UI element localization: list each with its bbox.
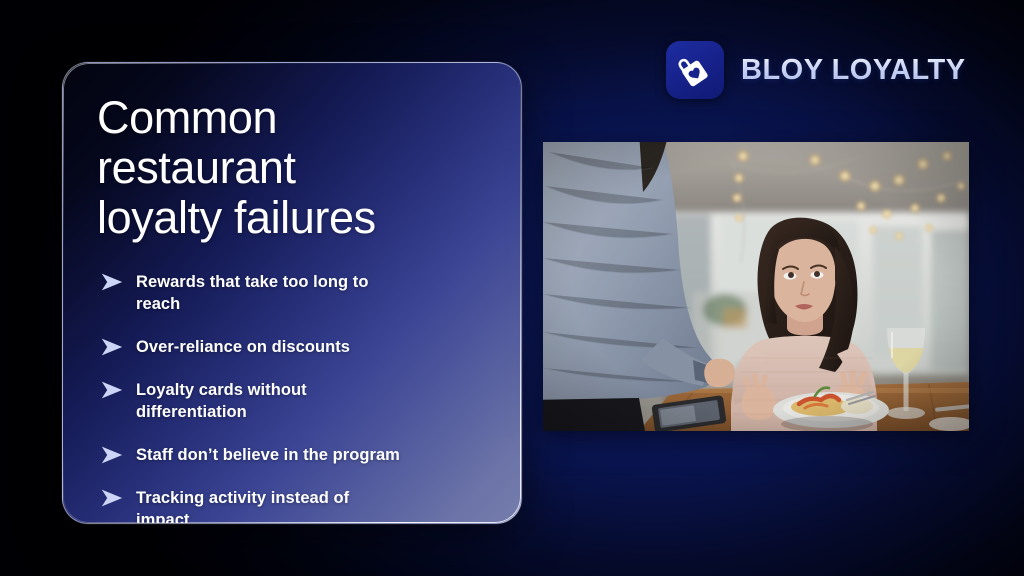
list-item-label: Tracking activity instead of impact (136, 487, 404, 524)
arrow-right-icon (101, 381, 123, 399)
list-item-label: Loyalty cards without differentiation (136, 379, 404, 423)
content-card: Common restaurant loyalty failures Rewar… (62, 62, 522, 524)
arrow-right-icon (101, 273, 123, 291)
list-item: Loyalty cards without differentiation (97, 379, 487, 423)
list-item: Rewards that take too long to reach (97, 271, 487, 315)
brand-wordmark: BLOY LOYALTY (741, 54, 966, 87)
restaurant-photo (543, 142, 969, 431)
arrow-right-icon (101, 338, 123, 356)
price-tag-heart-icon (666, 41, 724, 99)
arrow-right-icon (101, 446, 123, 464)
list-item-label: Over-reliance on discounts (136, 336, 350, 358)
brand-logo: BLOY LOYALTY (666, 41, 966, 99)
list-item-label: Staff don’t believe in the program (136, 444, 400, 466)
list-item: Over-reliance on discounts (97, 336, 487, 358)
list-item: Staff don’t believe in the program (97, 444, 487, 466)
page-title: Common restaurant loyalty failures (97, 93, 487, 243)
arrow-right-icon (101, 489, 123, 507)
failures-list: Rewards that take too long to reach Over… (97, 271, 487, 524)
list-item: Tracking activity instead of impact (97, 487, 487, 524)
list-item-label: Rewards that take too long to reach (136, 271, 404, 315)
